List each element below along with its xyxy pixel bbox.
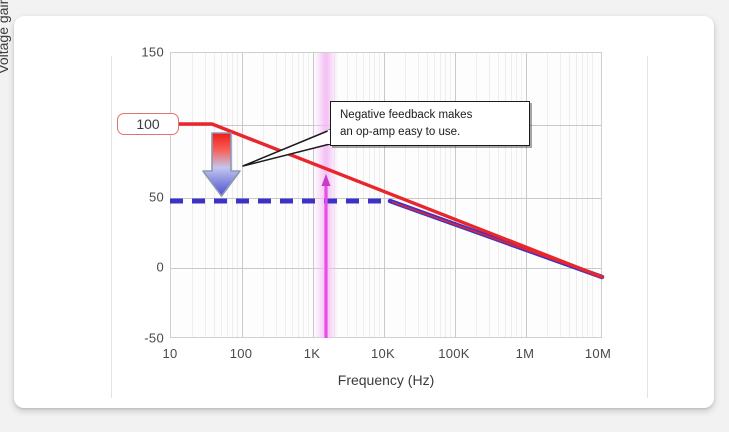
gridline-minor-v — [221, 53, 222, 337]
gridline-minor-v — [440, 53, 441, 337]
gridline-minor-v — [405, 53, 406, 337]
content-guide-right — [647, 56, 648, 398]
gridline-minor-v — [498, 53, 499, 337]
gridline-minor-v — [214, 53, 215, 337]
slide-canvas: 150 100 50 0 -50 10 100 1K 10K 100K 1M 1… — [0, 0, 729, 432]
x-tick-1K: 1K — [282, 346, 342, 361]
gridline-minor-v — [232, 53, 233, 337]
gridline-minor-v — [276, 53, 277, 337]
gridline-x-10K — [384, 53, 385, 337]
gridline-x-1K — [313, 53, 314, 337]
gridline-minor-v — [369, 53, 370, 337]
x-axis-ticks: 10 100 1K 10K 100K 1M 10M — [170, 346, 602, 366]
gridline-minor-v — [434, 53, 435, 337]
callout-note: Negative feedback makes an op-amp easy t… — [330, 101, 530, 146]
gridline-minor-v — [303, 53, 304, 337]
gridline-minor-v — [476, 53, 477, 337]
gridline-minor-v — [592, 53, 593, 337]
gridline-minor-v — [205, 53, 206, 337]
gridline-minor-v — [450, 53, 451, 337]
x-axis-title: Frequency (Hz) — [170, 372, 602, 388]
chart-plot-area — [170, 52, 602, 338]
open-loop-gain-badge: 100 — [117, 113, 179, 135]
y-tick--50: -50 — [118, 331, 164, 346]
x-tick-10: 10 — [140, 346, 200, 361]
gridline-minor-v — [511, 53, 512, 337]
gridline-minor-v — [560, 53, 561, 337]
x-tick-1M: 1M — [495, 346, 555, 361]
gridline-minor-v — [547, 53, 548, 337]
gridlines — [171, 53, 601, 337]
gridline-minor-v — [263, 53, 264, 337]
gridline-minor-v — [227, 53, 228, 337]
gridline-minor-v — [505, 53, 506, 337]
gridline-minor-v — [582, 53, 583, 337]
y-tick-50: 50 — [118, 190, 164, 205]
gridline-minor-v — [576, 53, 577, 337]
gridline-minor-v — [308, 53, 309, 337]
gridline-y-0 — [171, 268, 601, 269]
gridline-minor-v — [298, 53, 299, 337]
gridline-minor-v — [285, 53, 286, 337]
gridline-minor-v — [521, 53, 522, 337]
gridline-x-100 — [242, 53, 243, 337]
gridline-minor-v — [379, 53, 380, 337]
gridline-minor-v — [418, 53, 419, 337]
gridline-minor-v — [192, 53, 193, 337]
gridline-minor-v — [445, 53, 446, 337]
gridline-minor-v — [363, 53, 364, 337]
gridline-x-100K — [455, 53, 456, 337]
callout-note-line-1: Negative feedback makes — [340, 107, 520, 123]
y-tick-0: 0 — [118, 260, 164, 275]
gridline-minor-v — [292, 53, 293, 337]
y-axis-ticks: 150 100 50 0 -50 — [112, 52, 164, 338]
gridline-minor-v — [347, 53, 348, 337]
gridline-minor-v — [569, 53, 570, 337]
gridline-minor-v — [489, 53, 490, 337]
y-axis-title: Voltage gain (dB) — [0, 0, 11, 120]
gridline-minor-v — [427, 53, 428, 337]
gridline-minor-v — [374, 53, 375, 337]
gridline-minor-v — [334, 53, 335, 337]
gridline-x-1M — [526, 53, 527, 337]
x-tick-10K: 10K — [353, 346, 413, 361]
x-tick-100: 100 — [211, 346, 271, 361]
y-tick-150: 150 — [118, 45, 164, 60]
x-tick-10M: 10M — [568, 346, 628, 361]
gridline-y-50 — [171, 198, 601, 199]
gridline-minor-v — [516, 53, 517, 337]
gridline-minor-v — [356, 53, 357, 337]
gridline-minor-v — [587, 53, 588, 337]
callout-note-line-2: an op-amp easy to use. — [340, 124, 520, 140]
x-tick-100K: 100K — [424, 346, 484, 361]
gridline-minor-v — [237, 53, 238, 337]
